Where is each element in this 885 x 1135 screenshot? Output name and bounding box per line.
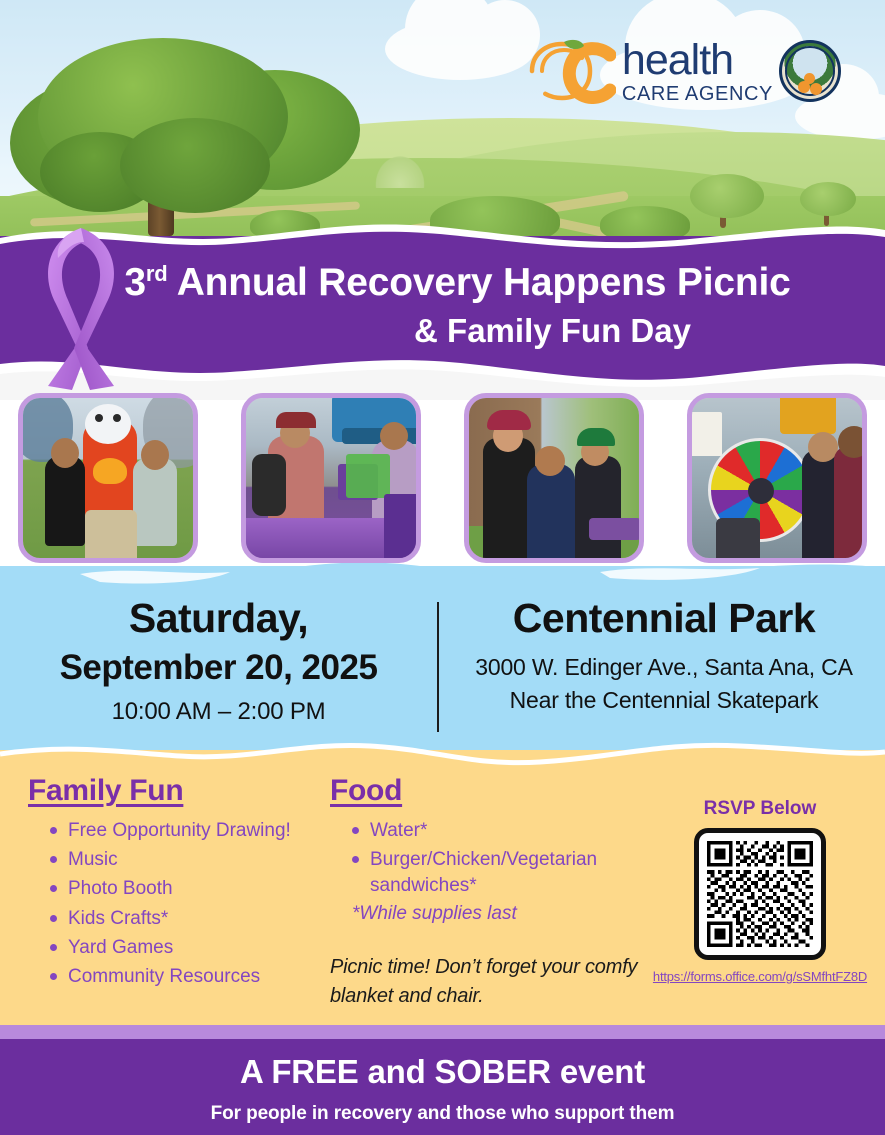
food-heading: Food [330,774,640,808]
footer-headline: A FREE and SOBER event [0,1039,885,1091]
list-item: Free Opportunity Drawing! [28,818,348,844]
lilac-divider-strip [0,1025,885,1039]
when-where-row: Saturday, September 20, 2025 10:00 AM – … [0,596,885,746]
food-column: Food Water* Burger/Chicken/Vegetarian sa… [330,774,640,1011]
county-of-orange-seal-icon [779,40,841,102]
oc-health-care-agency-logo: health CARE AGENCY [524,34,841,108]
cloud-icon [385,18,535,80]
footer-subline: For people in recovery and those who sup… [0,1103,885,1125]
picnic-reminder-note: Picnic time! Don’t forget your comfy bla… [330,953,640,1011]
family-fun-heading: Family Fun [28,774,348,808]
event-date: September 20, 2025 [0,646,437,690]
event-time: 10:00 AM – 2:00 PM [0,698,437,726]
oc-orange-icon [524,38,616,104]
tree-canopy [120,118,270,213]
list-item: Music [28,847,348,873]
rsvp-label: RSVP Below [645,798,875,820]
list-item: Burger/Chicken/Vegetarian sandwiches* [330,847,640,899]
photo-mascot-with-children [18,393,198,563]
event-date-block: Saturday, September 20, 2025 10:00 AM – … [0,596,437,726]
photo-strip [0,393,885,568]
logo-wordmark: health CARE AGENCY [622,39,773,104]
qr-code[interactable] [694,828,826,960]
footer-band: A FREE and SOBER event For people in rec… [0,1039,885,1135]
list-item: Photo Booth [28,876,348,902]
list-item: Yard Games [28,935,348,961]
flyer-page: health CARE AGENCY 3rd Annual Recovery H… [0,0,885,1135]
venue-name: Centennial Park [443,596,885,640]
title-ordinal-suffix: rd [146,261,168,286]
list-item: Community Resources [28,964,348,990]
venue-landmark: Near the Centennial Skatepark [443,685,885,716]
qr-code-icon[interactable] [707,841,813,947]
photo-prize-wheel [687,393,867,563]
food-disclaimer: *While supplies last [330,903,640,925]
event-day: Saturday, [0,596,437,640]
family-fun-column: Family Fun Free Opportunity Drawing! Mus… [28,774,348,993]
photo-face-painting [464,393,644,563]
palm-shrub-icon [372,152,428,188]
family-fun-list: Free Opportunity Drawing! Music Photo Bo… [28,818,348,990]
list-item: Kids Crafts* [28,906,348,932]
rsvp-link[interactable]: https://forms.office.com/g/sSMfhtFZ8D [645,969,875,984]
event-location-block: Centennial Park 3000 W. Edinger Ave., Sa… [439,596,885,716]
awareness-ribbon-icon [26,218,136,393]
venue-address: 3000 W. Edinger Ave., Santa Ana, CA [443,652,885,683]
list-item: Water* [330,818,640,844]
title-main-text: Annual Recovery Happens Picnic [177,261,791,304]
food-list: Water* Burger/Chicken/Vegetarian sandwic… [330,818,640,900]
logo-care-agency-text: CARE AGENCY [622,84,773,104]
photo-resource-booth-tote-bags [241,393,421,563]
rsvp-column: RSVP Below [645,798,875,984]
logo-health-text: health [622,39,773,82]
